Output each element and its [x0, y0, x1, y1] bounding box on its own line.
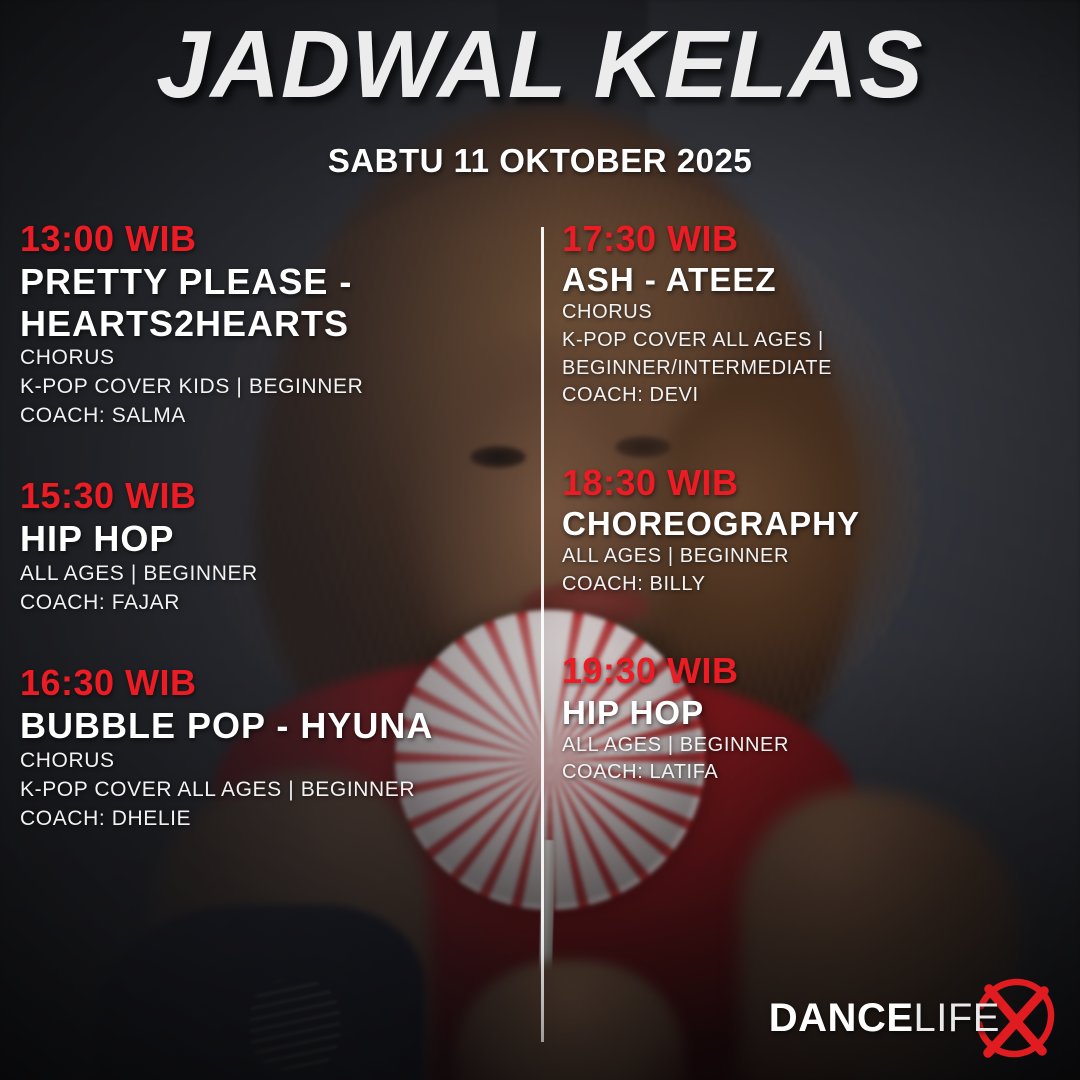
schedule-entry: 15:30 WIB HIP HOP ALL AGES | BEGINNER CO…: [20, 475, 520, 618]
entry-level: ALL AGES | BEGINNER: [20, 560, 520, 589]
brand-wordmark: DANCELIFE: [769, 998, 1000, 1038]
page-title: JADWAL KELAS: [0, 16, 1080, 114]
schedule-entry: 13:00 WIB PRETTY PLEASE - HEARTS2HEARTS …: [20, 218, 520, 431]
schedule-entry: 18:30 WIB CHOREOGRAPHY ALL AGES | BEGINN…: [562, 462, 1062, 599]
entry-time: 19:30 WIB: [562, 650, 1062, 691]
entry-time: 15:30 WIB: [20, 475, 520, 516]
entry-level: K-POP COVER ALL AGES | BEGINNER/INTERMED…: [562, 327, 1062, 382]
entry-coach: COACH: SALMA: [20, 402, 520, 431]
entry-level: ALL AGES | BEGINNER: [562, 543, 1062, 571]
entry-time: 18:30 WIB: [562, 462, 1062, 503]
entry-class: CHOREOGRAPHY: [562, 505, 1062, 543]
schedule-entry: 16:30 WIB BUBBLE POP - HYUNA CHORUS K-PO…: [20, 662, 520, 834]
brand-logo: DANCELIFE: [769, 982, 1058, 1054]
entry-coach: COACH: BILLY: [562, 571, 1062, 599]
entry-level: K-POP COVER KIDS | BEGINNER: [20, 373, 520, 402]
entry-class: PRETTY PLEASE - HEARTS2HEARTS: [20, 261, 520, 344]
entry-time: 17:30 WIB: [562, 218, 1062, 259]
brand-life-text: LIFE: [914, 996, 1000, 1040]
entry-class: ASH - ATEEZ: [562, 261, 1062, 299]
brand-dance-text: DANCE: [769, 996, 914, 1040]
entry-class: HIP HOP: [562, 694, 1062, 732]
entry-coach: COACH: FAJAR: [20, 589, 520, 618]
entry-coach: COACH: DEVI: [562, 382, 1062, 410]
entry-class: HIP HOP: [20, 518, 520, 559]
schedule-entry: 19:30 WIB HIP HOP ALL AGES | BEGINNER CO…: [562, 650, 1062, 787]
entry-section: CHORUS: [20, 344, 520, 373]
entry-class: BUBBLE POP - HYUNA: [20, 705, 520, 746]
entry-time: 13:00 WIB: [20, 218, 520, 259]
schedule-entry: 17:30 WIB ASH - ATEEZ CHORUS K-POP COVER…: [562, 218, 1062, 410]
class-schedule-poster: JADWAL KELAS SABTU 11 OKTOBER 2025 13:00…: [0, 0, 1080, 1080]
entry-coach: COACH: DHELIE: [20, 805, 520, 834]
entry-section: CHORUS: [20, 747, 520, 776]
schedule-column-right: 17:30 WIB ASH - ATEEZ CHORUS K-POP COVER…: [562, 218, 1062, 839]
entry-coach: COACH: LATIFA: [562, 759, 1062, 787]
entry-level: ALL AGES | BEGINNER: [562, 732, 1062, 760]
page-subtitle: SABTU 11 OKTOBER 2025: [0, 142, 1080, 180]
schedule-column-left: 13:00 WIB PRETTY PLEASE - HEARTS2HEARTS …: [20, 218, 520, 877]
entry-time: 16:30 WIB: [20, 662, 520, 703]
entry-level: K-POP COVER ALL AGES | BEGINNER: [20, 776, 520, 805]
entry-section: CHORUS: [562, 299, 1062, 327]
column-divider: [541, 227, 544, 1042]
